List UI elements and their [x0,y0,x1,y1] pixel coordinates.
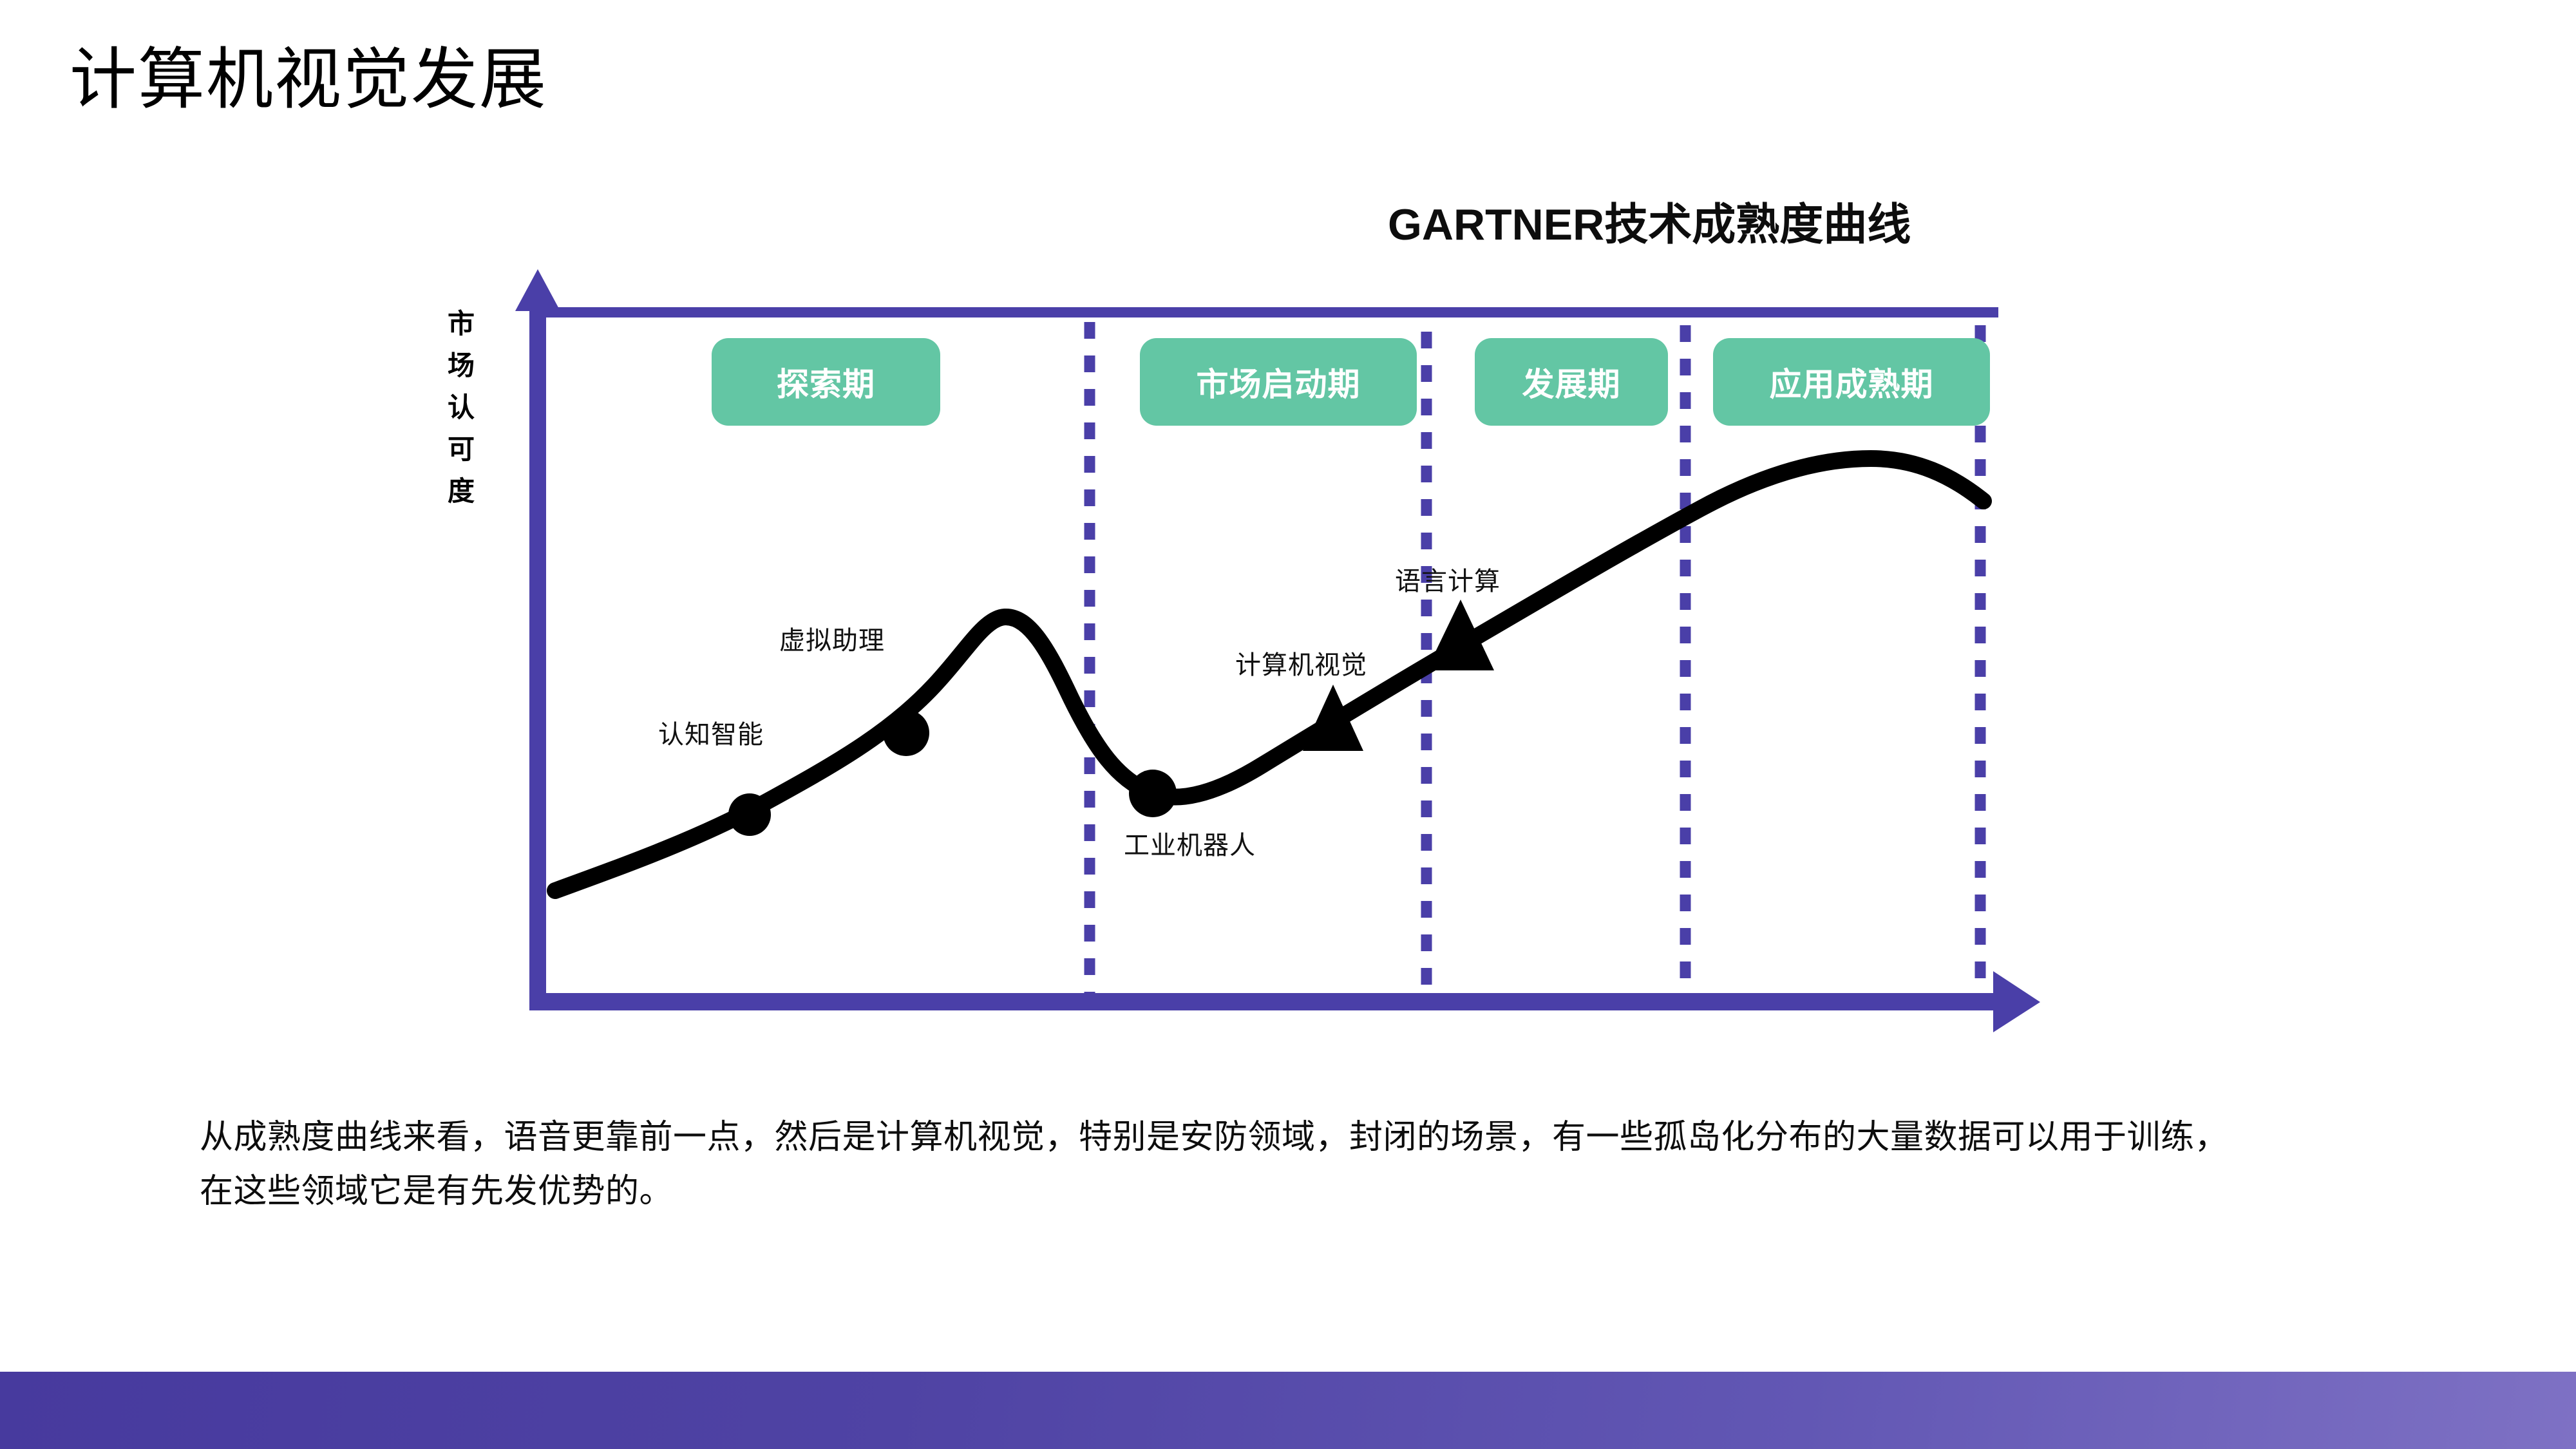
x-axis [529,971,2040,1032]
footer-bar [0,1372,2576,1449]
marker-circle-cognitive-intelligence[interactable] [728,793,771,836]
hype-cycle-chart: 市 场 认 可 度 探索期 市场启动期 发展期 应用成熟期 认知智能 虚拟助理 … [0,0,2576,1095]
y-axis-label-char: 市 [442,303,480,345]
chart-canvas [0,0,2576,1095]
y-axis-label-char: 场 [442,345,480,386]
phase-badge-exploration[interactable]: 探索期 [712,338,940,426]
y-axis-label-char: 认 [442,386,480,428]
body-paragraph: 从成熟度曲线来看，语音更靠前一点，然后是计算机视觉，特别是安防领域，封闭的场景，… [200,1110,2260,1218]
point-label-industrial-robot: 工业机器人 [1124,824,1256,862]
y-axis-label: 市 场 认 可 度 [442,303,480,512]
y-axis-label-char: 可 [442,428,480,470]
point-label-computer-vision: 计算机视觉 [1235,644,1367,681]
phase-badge-application-maturity[interactable]: 应用成熟期 [1713,338,1990,426]
point-label-language-computing: 语言计算 [1395,560,1501,598]
marker-circle-virtual-assistant[interactable] [883,710,929,756]
phase-badge-growth[interactable]: 发展期 [1475,338,1668,426]
marker-circle-industrial-robot[interactable] [1129,770,1177,817]
y-axis-label-char: 度 [442,470,480,512]
point-label-cognitive-intelligence: 认知智能 [658,714,764,751]
phase-badge-market-launch[interactable]: 市场启动期 [1140,338,1417,426]
chart-top-border [546,307,1998,317]
point-label-virtual-assistant: 虚拟助理 [779,620,885,657]
